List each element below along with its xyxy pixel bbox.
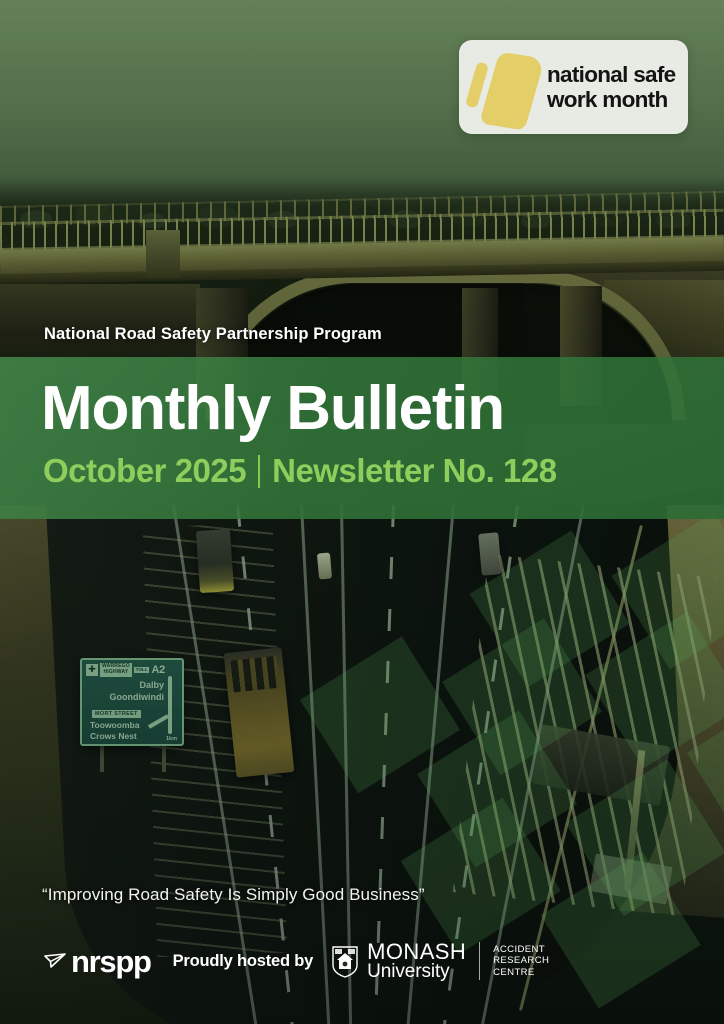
arc-line-2: RESEARCH (493, 955, 549, 967)
overlay-block (612, 512, 724, 669)
issue-divider (258, 455, 260, 488)
issue-date: October 2025 (43, 452, 246, 490)
monash-line-2: University (367, 962, 466, 981)
badge-text: national safe work month (547, 62, 675, 112)
national-safe-work-month-badge: national safe work month (459, 40, 688, 134)
arc-line-3: CENTRE (493, 967, 549, 979)
monash-logo: MONASH University (330, 942, 466, 981)
badge-line-1: national safe (547, 62, 675, 87)
hosted-by-label: Proudly hosted by (173, 952, 314, 971)
nrspp-wordmark: nrspp (71, 946, 151, 977)
badge-line-2: work month (547, 87, 675, 112)
bulletin-cover: ✚ WARREGO HIGHWAY TOLL A2 Dalby Goondiwi… (0, 0, 724, 1024)
monash-line-1: MONASH (367, 942, 466, 962)
tagline-quote: “Improving Road Safety Is Simply Good Bu… (42, 885, 425, 905)
footer-logos: nrspp Proudly hosted by MONASH Universit… (44, 938, 549, 984)
nrspp-logo: nrspp (44, 946, 151, 977)
nrspp-arrow-icon (44, 952, 68, 970)
footer-divider (479, 942, 480, 980)
badge-shape-icon (479, 52, 545, 131)
issue-number: Newsletter No. 128 (272, 452, 556, 490)
accident-research-centre-label: ACCIDENT RESEARCH CENTRE (493, 944, 549, 979)
issue-line: October 2025 Newsletter No. 128 (43, 452, 557, 490)
monash-wordmark: MONASH University (367, 942, 466, 981)
arc-line-1: ACCIDENT (493, 944, 549, 956)
program-name: National Road Safety Partnership Program (44, 325, 382, 344)
monash-crest-icon (330, 945, 360, 978)
page-title: Monthly Bulletin (41, 378, 504, 440)
